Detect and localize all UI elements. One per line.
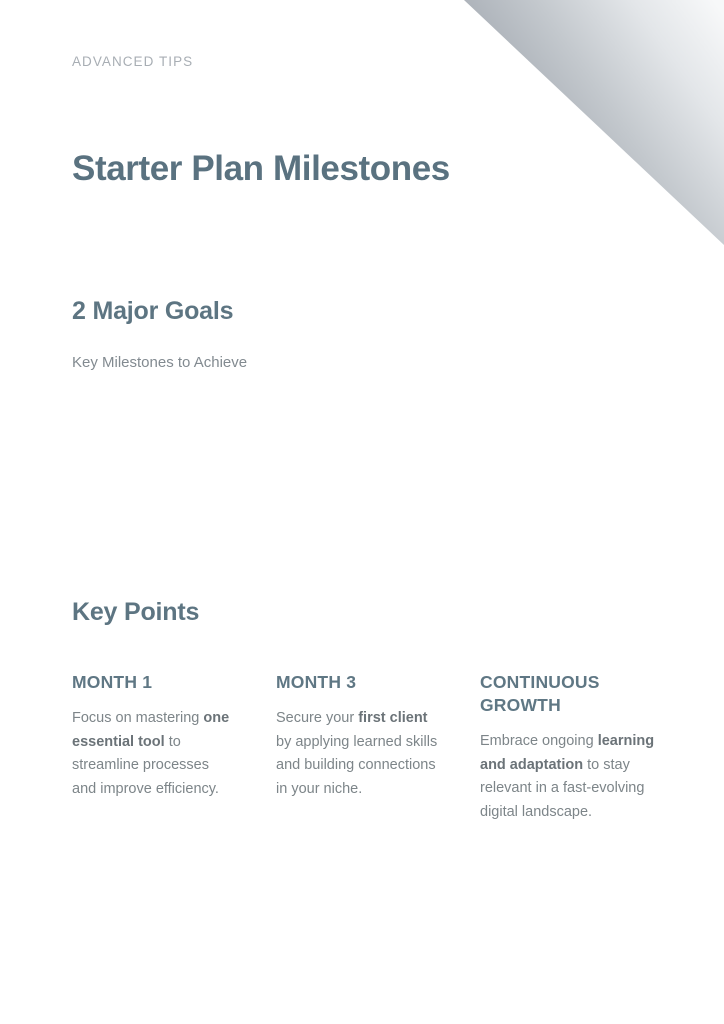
corner-triangle-icon	[464, 0, 724, 245]
key-point-body: Embrace ongoing learning and adaptation …	[480, 730, 660, 824]
key-point-title: MONTH 3	[276, 671, 440, 694]
corner-fold-decoration	[464, 0, 724, 245]
document-page: ADVANCED TIPS Starter Plan Milestones 2 …	[0, 0, 724, 1024]
key-point-column: CONTINUOUS GROWTH Embrace ongoing learni…	[480, 671, 660, 824]
key-point-title: MONTH 1	[72, 671, 236, 694]
goals-section-subtitle: Key Milestones to Achieve	[72, 352, 247, 374]
page-title: Starter Plan Milestones	[72, 149, 450, 189]
eyebrow-label: ADVANCED TIPS	[72, 54, 193, 70]
key-point-body: Secure your first client by applying lea…	[276, 707, 440, 801]
key-points-columns: MONTH 1 Focus on mastering one essential…	[72, 671, 672, 824]
key-points-heading: Key Points	[72, 597, 199, 627]
key-point-title: CONTINUOUS GROWTH	[480, 671, 660, 717]
key-point-column: MONTH 1 Focus on mastering one essential…	[72, 671, 236, 801]
key-point-body: Focus on mastering one essential tool to…	[72, 707, 236, 801]
key-point-column: MONTH 3 Secure your first client by appl…	[276, 671, 440, 801]
goals-section-heading: 2 Major Goals	[72, 296, 233, 326]
